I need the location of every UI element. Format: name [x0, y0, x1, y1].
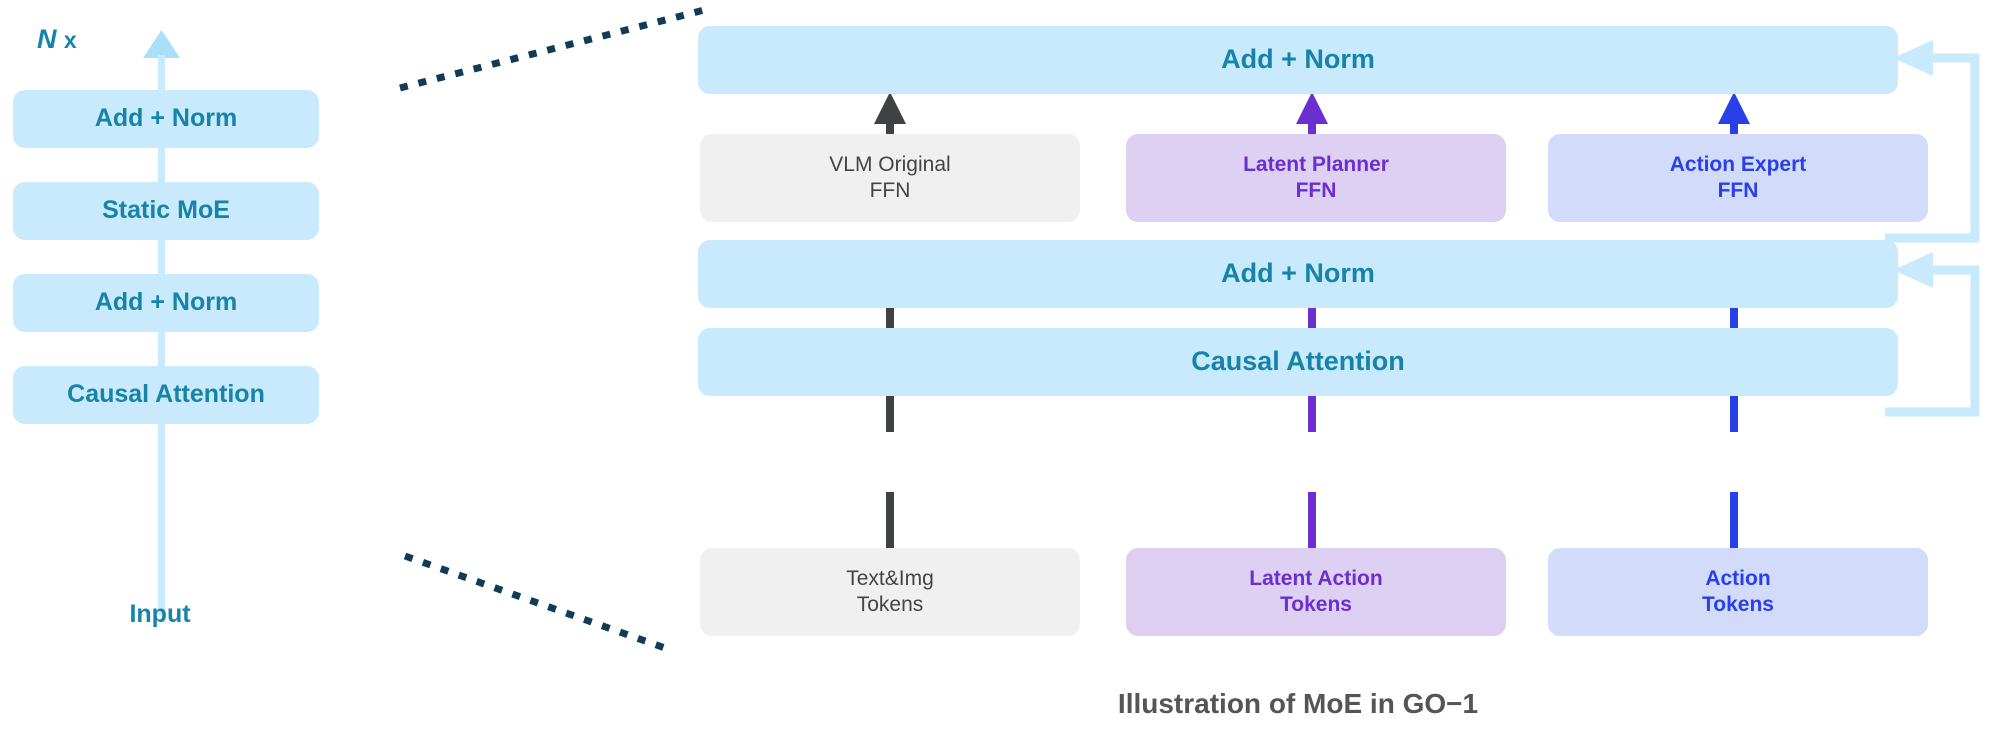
ffn-box-vlm-original[interactable]: VLM Original FFN [700, 134, 1080, 222]
right-bar-label: Add + Norm [1221, 43, 1375, 77]
line-gray-attn-to-token [886, 492, 894, 552]
right-causal-attention-bar[interactable]: Causal Attention [698, 328, 1898, 396]
token-box-line2: Tokens [1702, 592, 1774, 618]
ffn-box-text: Latent Planner FFN [1243, 152, 1389, 205]
token-box-line1: Action [1702, 566, 1774, 592]
ffn-box-line1: Action Expert [1670, 152, 1807, 178]
figure-caption: Illustration of MoE in GO−1 [698, 688, 1898, 720]
dotted-connector-top [400, 8, 712, 88]
ffn-box-line2: FFN [1670, 178, 1807, 204]
right-bar-label: Add + Norm [1221, 257, 1375, 291]
repeat-count-suffix: x [57, 27, 77, 53]
left-block-causal-attention[interactable]: Causal Attention [13, 366, 319, 424]
left-block-static-moe[interactable]: Static MoE [13, 182, 319, 240]
input-label: Input [0, 600, 320, 629]
left-flow-arrow-icon [143, 30, 180, 58]
left-block-add-norm-upper[interactable]: Add + Norm [13, 90, 319, 148]
ffn-box-line2: FFN [1243, 178, 1389, 204]
right-bar-label: Causal Attention [1191, 345, 1405, 379]
repeat-count-label: N x [37, 24, 77, 55]
left-block-label: Causal Attention [67, 379, 265, 410]
token-box-line2: Tokens [846, 592, 934, 618]
right-mid-add-norm-bar[interactable]: Add + Norm [698, 240, 1898, 308]
ffn-box-text: Action Expert FFN [1670, 152, 1807, 205]
repeat-count-value: N [37, 24, 57, 54]
ffn-box-line1: Latent Planner [1243, 152, 1389, 178]
ffn-box-line2: FFN [829, 178, 950, 204]
token-box-action[interactable]: Action Tokens [1548, 548, 1928, 636]
left-block-add-norm-lower[interactable]: Add + Norm [13, 274, 319, 332]
left-block-label: Add + Norm [95, 287, 237, 318]
left-block-label: Add + Norm [95, 103, 237, 134]
token-box-text: Latent Action Tokens [1249, 566, 1382, 619]
token-box-latent-action[interactable]: Latent Action Tokens [1126, 548, 1506, 636]
right-top-add-norm-bar[interactable]: Add + Norm [698, 26, 1898, 94]
line-purple-attn-to-token [1308, 492, 1316, 552]
ffn-box-latent-planner[interactable]: Latent Planner FFN [1126, 134, 1506, 222]
token-box-text: Text&Img Tokens [846, 566, 934, 619]
ffn-box-text: VLM Original FFN [829, 152, 950, 205]
dotted-connector-bottom [405, 556, 665, 648]
token-box-line2: Tokens [1249, 592, 1382, 618]
token-box-text: Action Tokens [1702, 566, 1774, 619]
residual-connection-lower [1885, 252, 1975, 412]
diagram-canvas: N x Add + Norm Static MoE Add + Norm Cau… [0, 0, 2014, 748]
ffn-box-action-expert[interactable]: Action Expert FFN [1548, 134, 1928, 222]
left-block-label: Static MoE [102, 195, 230, 226]
token-box-line1: Latent Action [1249, 566, 1382, 592]
line-blue-attn-to-token [1730, 492, 1738, 552]
token-box-text-img[interactable]: Text&Img Tokens [700, 548, 1080, 636]
token-box-line1: Text&Img [846, 566, 934, 592]
ffn-box-line1: VLM Original [829, 152, 950, 178]
